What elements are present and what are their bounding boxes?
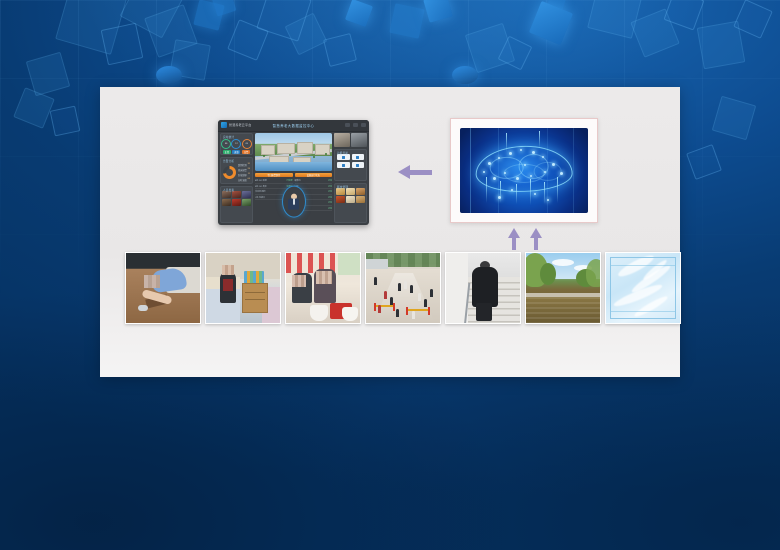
face-blur-overlay (292, 275, 306, 287)
alert-row: 区域越界11 (238, 173, 250, 177)
person-thumb[interactable] (242, 191, 251, 198)
avatar (288, 193, 299, 210)
sample-photo-4[interactable] (365, 252, 441, 324)
arrow-left-ai-to-dashboard (398, 165, 432, 179)
gear-icon[interactable] (345, 123, 350, 127)
face-blur-overlay (222, 265, 234, 275)
meal-thumb[interactable] (346, 188, 355, 195)
dashboard-toolbar[interactable] (345, 123, 366, 127)
person-thumb[interactable] (232, 199, 241, 206)
nav-icons-label: 功能导航 (337, 151, 348, 155)
alert-events-header: 今日报警事件 (255, 173, 293, 177)
meal-panel-label: 膳食管理 (337, 185, 348, 189)
camera-thumb[interactable] (351, 133, 367, 147)
center-lists: A栋 302 跌倒已处理 B栋 105 离床处理中 活动室 拥挤已处理 C栋 电… (255, 179, 332, 223)
meal-thumb[interactable] (356, 188, 365, 195)
face-blur-overlay (144, 275, 160, 288)
arrow-shaft (512, 235, 516, 250)
meal-thumb[interactable] (336, 196, 345, 203)
person-thumb[interactable] (232, 191, 241, 198)
live-camera-row[interactable] (334, 133, 367, 147)
meal-thumb[interactable] (356, 196, 365, 203)
gauge-online: 86 (221, 139, 231, 149)
report-stats-icon[interactable] (352, 162, 365, 168)
nav-icons-panel: 功能导航 (334, 149, 367, 181)
face-blur-overlay (316, 271, 332, 284)
alert-row: 跌倒检测31 (238, 163, 250, 167)
device-status-header: 设备运行状态 (295, 173, 333, 177)
center-section-headers: 今日报警事件 设备运行状态 (255, 173, 332, 177)
ai-brain-image (460, 128, 588, 213)
pill-normal[interactable]: 正常 (223, 150, 231, 154)
pill-patrol[interactable]: 巡查 (232, 150, 240, 154)
avatar-body-icon (288, 199, 299, 210)
sample-photo-1[interactable] (125, 252, 201, 324)
exit-icon[interactable] (361, 123, 366, 127)
gauge-offline: 05 (242, 139, 252, 149)
sample-photo-3[interactable] (285, 252, 361, 324)
camera-thumb[interactable] (334, 133, 350, 147)
fullscreen-icon[interactable] (353, 123, 358, 127)
dashboard-body: 实时统计 86 12 05 正常 巡查 告警 告警分析 (218, 131, 369, 225)
person-thumb[interactable] (222, 191, 231, 198)
alert-analysis-label: 告警分析 (223, 159, 234, 163)
arrow-shaft (410, 170, 432, 175)
alert-rows: 跌倒检测31 离床报警24 区域越界11 长时滞留06 (238, 163, 250, 182)
health-record-icon[interactable] (352, 154, 365, 160)
dashboard-right-column: 功能导航 膳食管理 (334, 133, 367, 223)
photo-strip (125, 252, 683, 324)
meal-thumb[interactable] (336, 188, 345, 195)
arrow-shaft (534, 235, 538, 250)
pill-alert[interactable]: 告警 (242, 150, 250, 154)
stats-panel: 实时统计 86 12 05 正常 巡查 告警 (220, 133, 253, 155)
arrow-up-samples-to-ai (530, 228, 542, 250)
sample-photo-5[interactable] (445, 252, 521, 324)
list-item: 摄像机正常 (295, 179, 333, 184)
alert-row: 长时滞留06 (238, 178, 250, 182)
person-thumb[interactable] (242, 199, 251, 206)
gauge-warning: 12 (231, 139, 241, 149)
alert-analysis-panel: 告警分析 跌倒检测31 离床报警24 区域越界11 长时滞留06 (220, 157, 253, 184)
device-monitor-icon[interactable] (337, 162, 350, 168)
sample-photo-2[interactable] (205, 252, 281, 324)
meal-thumb[interactable] (346, 196, 355, 203)
person-thumbs-label: 人员档案 (223, 188, 234, 192)
status-pill-group[interactable]: 正常 巡查 告警 (221, 150, 252, 156)
sample-photo-6[interactable] (525, 252, 601, 324)
arrow-head (398, 165, 410, 179)
arrow-up-samples-to-ai (508, 228, 520, 250)
alert-row: 离床报警24 (238, 168, 250, 172)
smart-care-dashboard[interactable]: 智慧养老云平台 智慧养老大数据监控中心 实时统计 86 12 05 (218, 120, 369, 225)
ai-brain-card[interactable] (450, 118, 598, 223)
person-thumb[interactable] (222, 199, 231, 206)
focus-person-avatar[interactable] (282, 186, 306, 218)
sample-photo-7[interactable] (605, 252, 681, 324)
meal-panel: 膳食管理 (334, 183, 367, 223)
list-item: A栋 302 跌倒已处理 (255, 179, 293, 184)
person-thumbs-panel: 人员档案 (220, 186, 253, 223)
dashboard-left-column: 实时统计 86 12 05 正常 巡查 告警 告警分析 (220, 133, 253, 223)
campus-3d-view[interactable] (255, 133, 332, 171)
dashboard-center-column: 今日报警事件 设备运行状态 A栋 302 跌倒已处理 B栋 105 离床处理中 … (255, 133, 332, 223)
slide-canvas: 智慧养老云平台 智慧养老大数据监控中心 实时统计 86 12 05 (0, 0, 780, 550)
donut-chart (223, 166, 236, 179)
